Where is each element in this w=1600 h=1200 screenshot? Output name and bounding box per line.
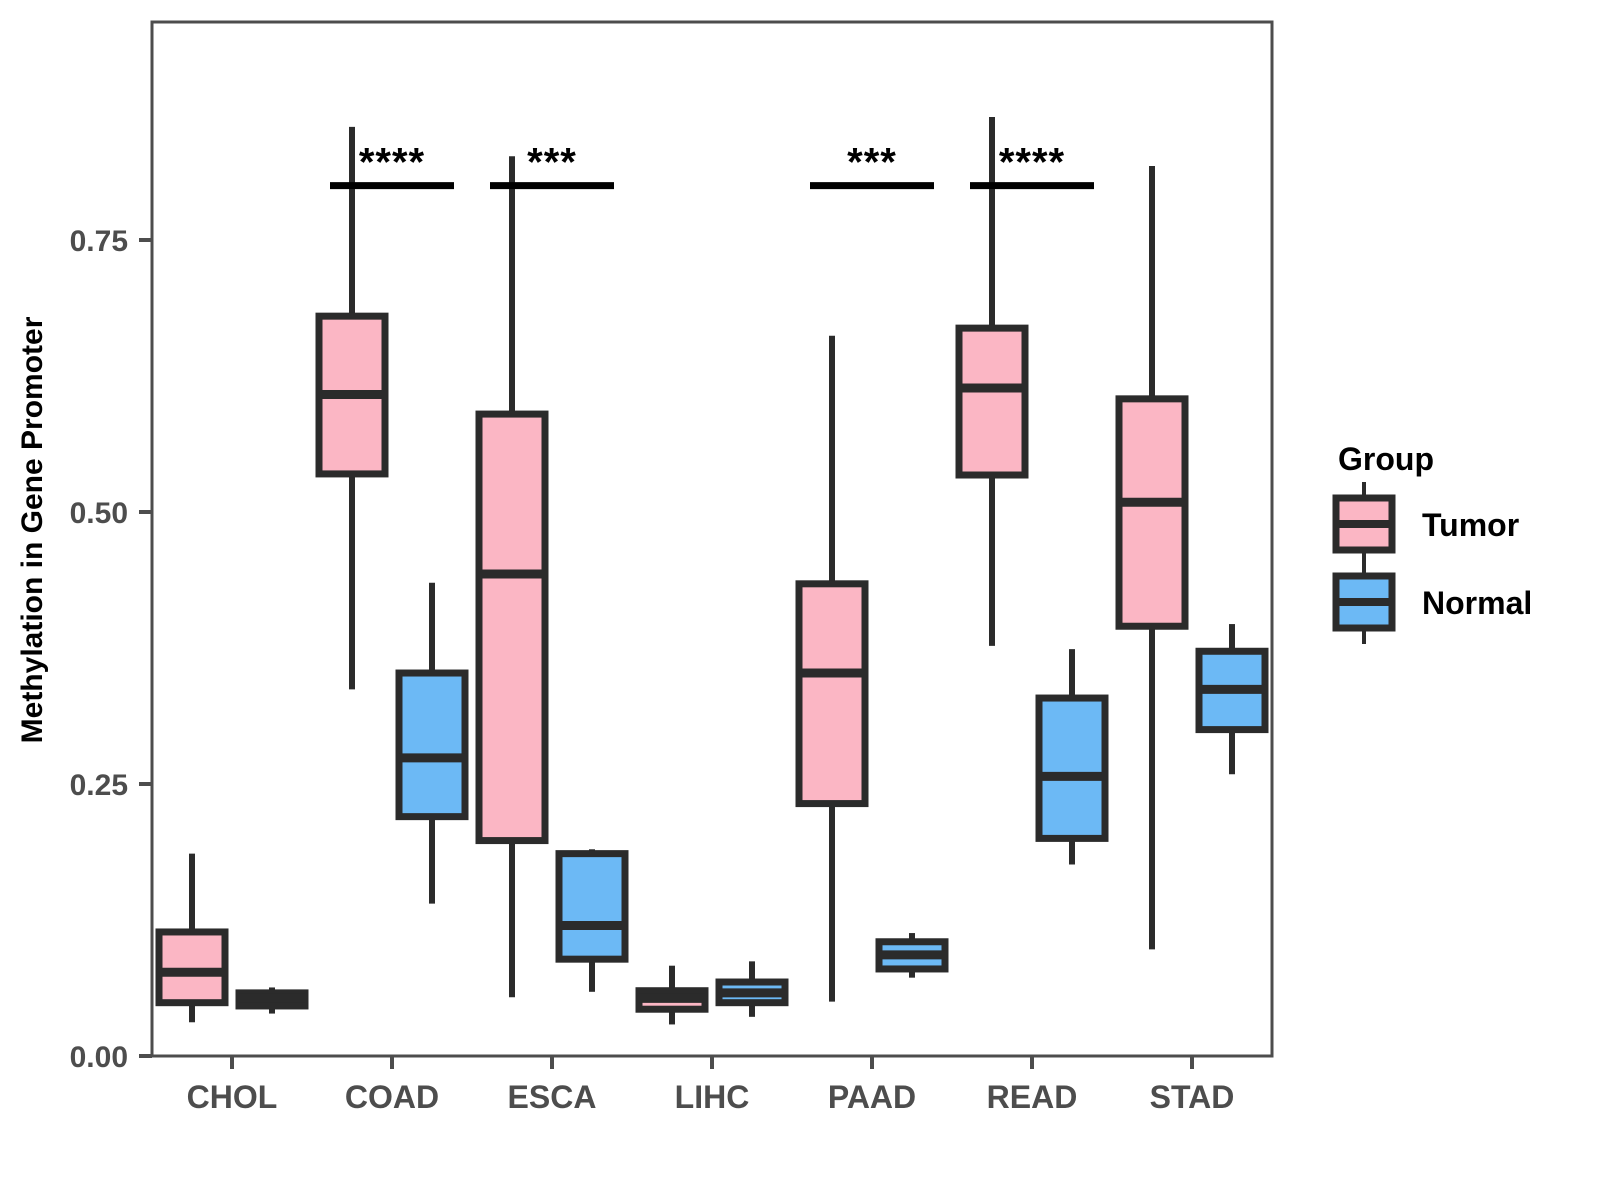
significance-stars: **** — [999, 141, 1065, 185]
significance-stars: **** — [359, 141, 425, 185]
y-axis-title: Methylation in Gene Promoter — [16, 316, 49, 743]
box-rect — [559, 854, 625, 960]
box-rect — [159, 932, 225, 1003]
x-tick-label-read: READ — [987, 1079, 1078, 1115]
box-rect — [1039, 698, 1105, 838]
x-tick-label-chol: CHOL — [187, 1079, 278, 1115]
x-tick-label-coad: COAD — [345, 1079, 439, 1115]
box-rect — [399, 673, 465, 817]
box-rect — [959, 328, 1025, 475]
y-tick-label: 0.25 — [70, 769, 128, 802]
significance-stars: *** — [527, 141, 577, 185]
significance-stars: *** — [847, 141, 897, 185]
y-tick-label: 0.00 — [70, 1041, 128, 1074]
box-rect — [799, 584, 865, 804]
panel-border — [152, 22, 1272, 1056]
x-tick-label-stad: STAD — [1150, 1079, 1235, 1115]
x-tick-label-lihc: LIHC — [675, 1079, 750, 1115]
x-tick-label-paad: PAAD — [828, 1079, 916, 1115]
x-tick-label-esca: ESCA — [508, 1079, 597, 1115]
box-rect — [1119, 399, 1185, 626]
legend-title: Group — [1338, 441, 1434, 477]
chart-root: ************** 0.000.250.500.75 CHOLCOAD… — [0, 0, 1600, 1200]
legend-label: Normal — [1422, 585, 1532, 621]
legend-label: Tumor — [1422, 507, 1519, 543]
y-tick-label: 0.50 — [70, 497, 128, 530]
box-rect — [479, 414, 545, 840]
box-normal-paad — [879, 933, 945, 978]
boxplot-figure: ************** 0.000.250.500.75 CHOLCOAD… — [0, 0, 1600, 1200]
plot-panel — [152, 22, 1272, 1056]
y-tick-label: 0.75 — [70, 225, 128, 258]
